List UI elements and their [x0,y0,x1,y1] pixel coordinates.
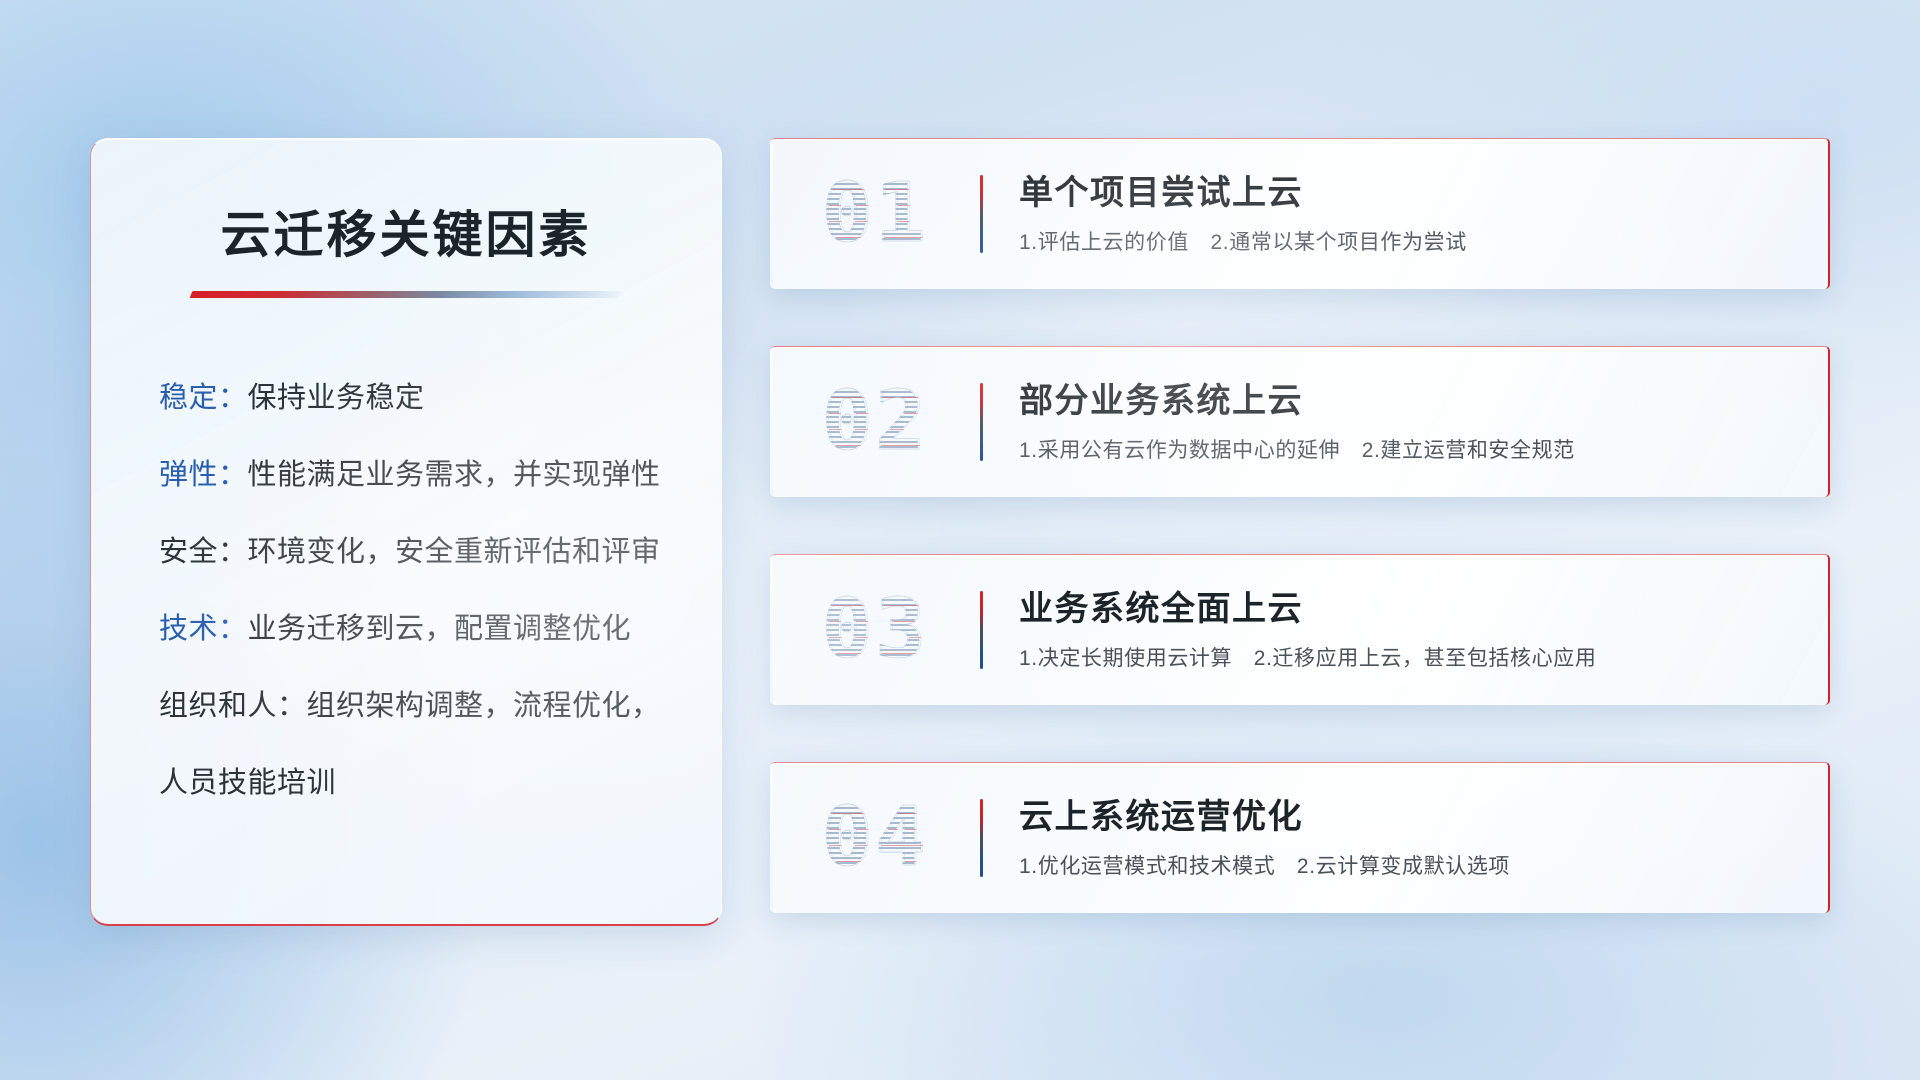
factor-value: 组织架构调整，流程优化， [307,690,661,722]
stage-card-02[interactable]: 02 部分业务系统上云 1.采用公有云作为数据中心的延伸 2.建立运营和安全规范 [770,346,1830,497]
factor-key: 弹性： [159,459,248,491]
factor-value: 人员技能培训 [159,767,336,799]
page-title: 云迁移关键因素 [137,187,675,265]
list-item: 人员技能培训 [137,761,675,805]
stage-text-block: 业务系统全面上云 1.决定长期使用云计算 2.迁移应用上云，甚至包括核心应用 [1019,588,1828,672]
factor-value: 环境变化，安全重新评估和评审 [248,536,661,568]
factor-key: 技术： [159,613,248,645]
key-factors-panel-body: 云迁移关键因素 稳定：保持业务稳定 弹性：性能满足业务需求，并实现弹性 安全：环… [91,139,721,924]
stage-card-03[interactable]: 03 业务系统全面上云 1.决定长期使用云计算 2.迁移应用上云，甚至包括核心应… [770,554,1830,705]
factor-key: 安全： [159,536,248,568]
stage-description: 1.采用公有云作为数据中心的延伸 2.建立运营和安全规范 [1019,437,1798,464]
stage-number-wrap: 04 [770,763,980,913]
stage-number: 04 [822,797,929,879]
factor-key: 组织和人： [159,690,307,722]
stage-card-01[interactable]: 01 单个项目尝试上云 1.评估上云的价值 2.通常以某个项目作为尝试 [770,138,1830,289]
stage-number-wrap: 03 [770,555,980,705]
key-factors-panel: 云迁移关键因素 稳定：保持业务稳定 弹性：性能满足业务需求，并实现弹性 安全：环… [90,138,722,926]
stage-divider-bar [980,591,983,669]
stage-description: 1.评估上云的价值 2.通常以某个项目作为尝试 [1019,229,1798,256]
stage-title: 单个项目尝试上云 [1019,172,1798,215]
stage-number: 03 [822,589,929,671]
stage-card-04[interactable]: 04 云上系统运营优化 1.优化运营模式和技术模式 2.云计算变成默认选项 [770,762,1830,913]
stage-number: 01 [822,173,929,255]
stage-number-wrap: 01 [770,139,980,289]
stage-divider-bar [980,175,983,253]
stage-text-block: 云上系统运营优化 1.优化运营模式和技术模式 2.云计算变成默认选项 [1019,796,1828,880]
stage-title: 业务系统全面上云 [1019,588,1798,631]
factor-value: 保持业务稳定 [248,382,425,414]
slide-canvas: 云迁移关键因素 稳定：保持业务稳定 弹性：性能满足业务需求，并实现弹性 安全：环… [0,0,1920,1080]
stage-description: 1.优化运营模式和技术模式 2.云计算变成默认选项 [1019,853,1798,880]
stage-number-wrap: 02 [770,347,980,497]
stage-number: 02 [822,381,929,463]
list-item: 稳定：保持业务稳定 [137,376,675,420]
stage-divider-bar [980,383,983,461]
stage-text-block: 单个项目尝试上云 1.评估上云的价值 2.通常以某个项目作为尝试 [1019,172,1828,256]
title-underline-rule [190,291,623,298]
migration-stages-list: 01 单个项目尝试上云 1.评估上云的价值 2.通常以某个项目作为尝试 02 部… [770,138,1830,970]
factor-value: 业务迁移到云，配置调整优化 [248,613,632,645]
factor-list: 稳定：保持业务稳定 弹性：性能满足业务需求，并实现弹性 安全：环境变化，安全重新… [137,376,675,805]
list-item: 组织和人：组织架构调整，流程优化， [137,684,675,728]
list-item: 技术：业务迁移到云，配置调整优化 [137,607,675,651]
stage-description: 1.决定长期使用云计算 2.迁移应用上云，甚至包括核心应用 [1019,645,1798,672]
stage-text-block: 部分业务系统上云 1.采用公有云作为数据中心的延伸 2.建立运营和安全规范 [1019,380,1828,464]
factor-key: 稳定： [159,382,248,414]
stage-divider-bar [980,799,983,877]
list-item: 弹性：性能满足业务需求，并实现弹性 [137,453,675,497]
stage-title: 部分业务系统上云 [1019,380,1798,423]
stage-title: 云上系统运营优化 [1019,796,1798,839]
factor-value: 性能满足业务需求，并实现弹性 [248,459,661,491]
list-item: 安全：环境变化，安全重新评估和评审 [137,530,675,574]
